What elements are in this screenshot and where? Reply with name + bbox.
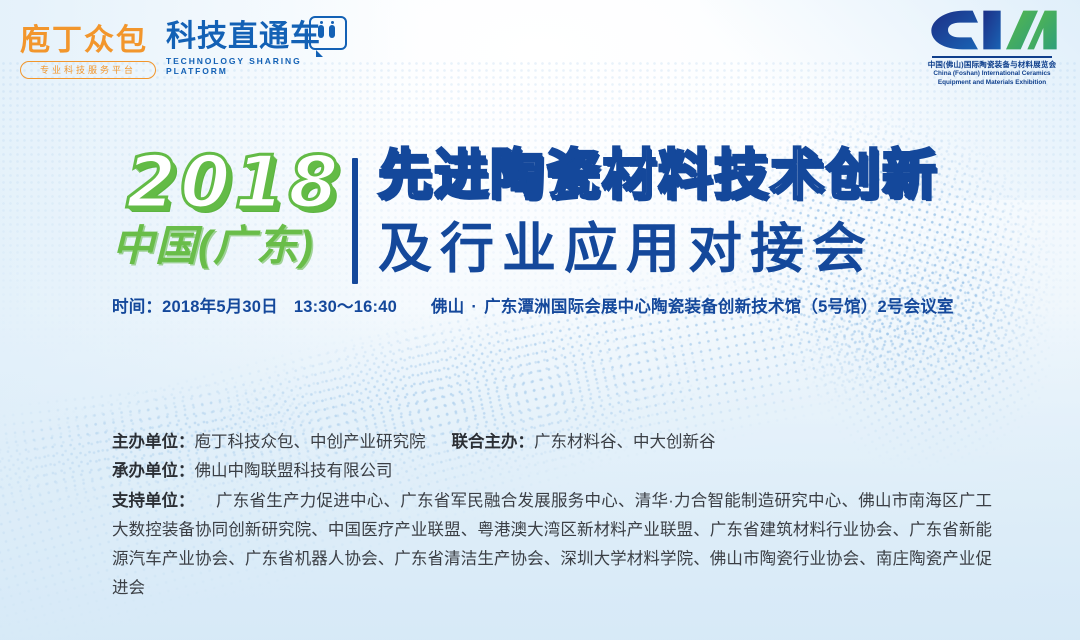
poster-canvas: 庖丁众包 专业科技服务平台 科技直通车 TECHNOLOGY SHARING P… [0, 0, 1080, 640]
paoding-logo-main-text: 庖丁众包 [20, 26, 156, 56]
event-venue: 广东潭洲国际会展中心陶瓷装备创新技术馆（5号馆）2号会议室 [484, 298, 954, 316]
event-title-line2: 及行业应用对接会 [378, 222, 874, 276]
host-row: 主办单位：庖丁科技众包、中创产业研究院联合主办：广东材料谷、中大创新谷 [112, 428, 1012, 457]
technology-express-logo: 科技直通车 TECHNOLOGY SHARING PLATFORM [166, 22, 326, 76]
cim-english-name-line1: China (Foshan) International Ceramics [926, 70, 1058, 78]
cohost-value: 广东材料谷、中大创新谷 [534, 433, 716, 451]
speech-bubble-icon [309, 16, 347, 50]
organiser-value: 佛山中陶联盟科技有限公司 [195, 462, 393, 480]
paoding-logo-subtitle: 专业科技服务平台 [20, 61, 156, 79]
technology-express-main-text: 科技直通车 [166, 22, 326, 52]
header-logo-bar: 庖丁众包 专业科技服务平台 科技直通车 TECHNOLOGY SHARING P… [0, 0, 1080, 96]
technology-express-subtitle: TECHNOLOGY SHARING PLATFORM [166, 56, 326, 76]
host-value: 庖丁科技众包、中创产业研究院 [195, 433, 426, 451]
event-year: 2018 [126, 146, 342, 218]
event-title-block: 2018 中国(广东) 先进陶瓷材料技术创新 及行业应用对接会 [0, 140, 1080, 300]
cim-english-name-line2: Equipment and Materials Exhibition [926, 79, 1058, 87]
organiser-label: 承办单位： [112, 462, 195, 480]
event-date: 2018年5月30日 [162, 298, 278, 316]
cim-divider [932, 56, 1052, 58]
support-value: 广东省生产力促进中心、广东省军民融合发展服务中心、清华·力合智能制造研究中心、佛… [112, 487, 992, 603]
paoding-crowdsourcing-logo: 庖丁众包 专业科技服务平台 [20, 26, 156, 79]
cim-monogram-icon [926, 8, 1059, 52]
time-label: 时间： [112, 298, 162, 316]
event-meta-line: 时间：2018年5月30日13:30～16:40佛山·广东潭洲国际会展中心陶瓷装… [112, 293, 1012, 317]
cim-exhibition-logo: 中国(佛山)国际陶瓷装备与材料展览会 China (Foshan) Intern… [926, 8, 1058, 87]
support-block: 支持单位： 广东省生产力促进中心、广东省军民融合发展服务中心、清华·力合智能制造… [112, 487, 992, 603]
host-label: 主办单位： [112, 433, 195, 451]
event-region: 中国(广东) [112, 225, 314, 267]
event-city: 佛山 [431, 298, 464, 316]
event-title-line1: 先进陶瓷材料技术创新 [378, 148, 938, 202]
support-label: 支持单位： [112, 487, 195, 516]
cim-chinese-name: 中国(佛山)国际陶瓷装备与材料展览会 [926, 61, 1058, 70]
cohost-label: 联合主办： [452, 433, 535, 451]
meta-separator: · [471, 298, 477, 316]
organiser-row: 承办单位：佛山中陶联盟科技有限公司 [112, 457, 1012, 486]
title-divider-bar [352, 158, 358, 284]
organiser-block: 主办单位：庖丁科技众包、中创产业研究院联合主办：广东材料谷、中大创新谷 承办单位… [112, 428, 1012, 486]
event-time-range: 13:30～16:40 [294, 298, 397, 316]
